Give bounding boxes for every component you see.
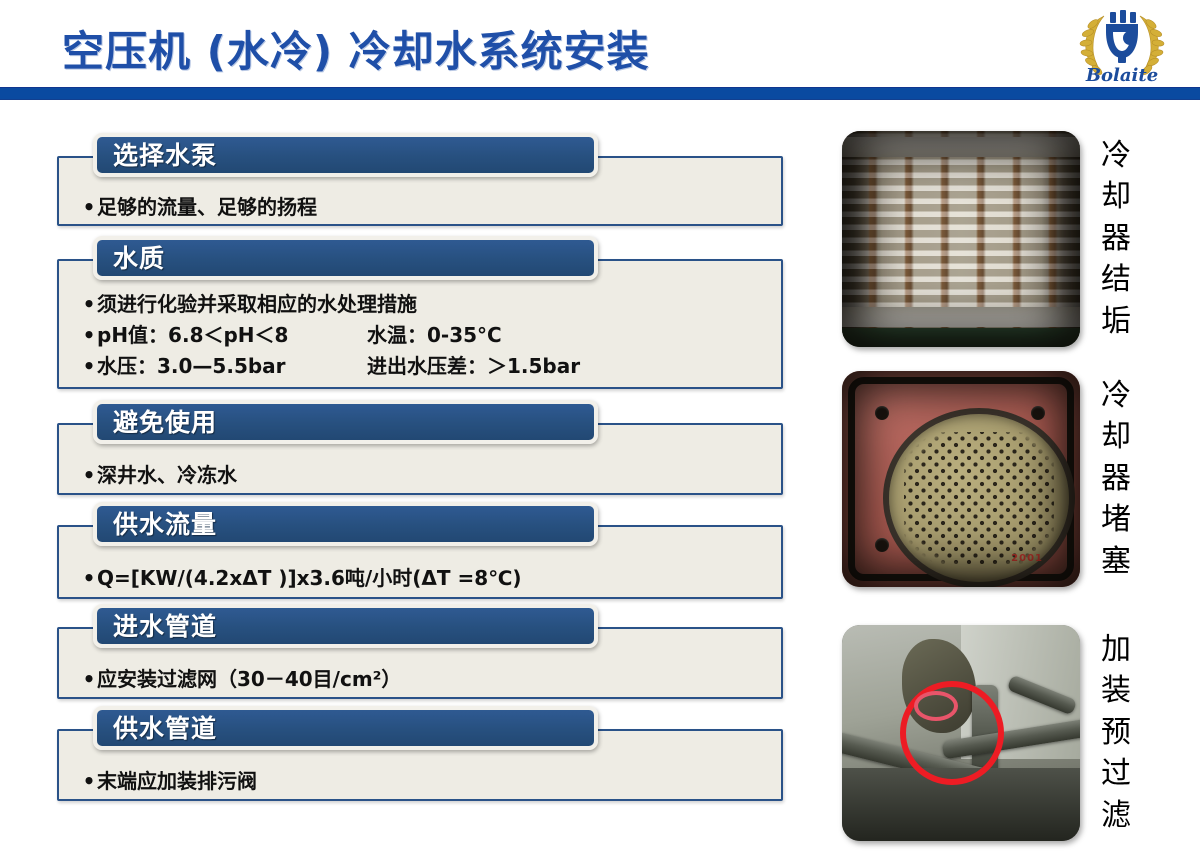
title-divider bbox=[0, 87, 1200, 100]
bullet-text: 水压：3.0—5.5bar bbox=[97, 351, 337, 382]
caption-char: 过 bbox=[1094, 753, 1138, 794]
cooler-blockage-photo[interactable]: 2001 bbox=[842, 371, 1080, 587]
info-box-header-label: 供水流量 bbox=[97, 512, 217, 537]
caption-char: 器 bbox=[1094, 458, 1138, 499]
photo-caption-cooler-scaling: 冷却器结垢 bbox=[1094, 135, 1138, 342]
bullet-dot: • bbox=[81, 320, 97, 351]
bullet-text: 须进行化验并采取相应的水处理措施 bbox=[97, 289, 417, 320]
bullet-text: 深井水、冷冻水 bbox=[97, 460, 237, 491]
bullet-line: • 须进行化验并采取相应的水处理措施 bbox=[81, 289, 781, 320]
slide-root: 空压机 (水冷) 冷却水系统安装 bbox=[0, 0, 1200, 858]
pre-filter-install-photo[interactable] bbox=[842, 625, 1080, 841]
bullet-dot: • bbox=[81, 351, 97, 382]
bullet-list: • 深井水、冷冻水 bbox=[59, 460, 781, 491]
bullet-text: pH值：6.8＜pH＜8 bbox=[97, 320, 337, 351]
photo-item-cooler-blockage: 2001 冷却器堵塞 bbox=[842, 371, 1142, 587]
caption-char: 结 bbox=[1094, 259, 1138, 300]
caption-text: 冷却器结垢 bbox=[1094, 135, 1138, 342]
bullet-list: • 应安装过滤网（30－40目/cm²） bbox=[59, 664, 781, 695]
caption-char: 却 bbox=[1094, 176, 1138, 217]
bullet-line: • Q=[KW/(4.2xΔT )]x3.6吨/小时(ΔT =8℃) bbox=[81, 563, 781, 594]
caption-char: 加 bbox=[1094, 629, 1138, 670]
bullet-text-secondary: 进出水压差：＞1.5bar bbox=[367, 351, 580, 382]
caption-text: 加装预过滤 bbox=[1094, 629, 1138, 836]
bullet-line: • 足够的流量、足够的扬程 bbox=[81, 192, 781, 223]
bullet-text: 应安装过滤网（30－40目/cm²） bbox=[97, 664, 401, 695]
bullet-text: Q=[KW/(4.2xΔT )]x3.6吨/小时(ΔT =8℃) bbox=[97, 563, 522, 594]
bullet-dot: • bbox=[81, 460, 97, 491]
info-box-header[interactable]: 进水管道 bbox=[93, 604, 598, 648]
info-box-header[interactable]: 供水管道 bbox=[93, 706, 598, 750]
info-box-header-label: 选择水泵 bbox=[97, 143, 217, 168]
caption-char: 冷 bbox=[1094, 135, 1138, 176]
bullet-list: • 末端应加装排污阀 bbox=[59, 766, 781, 797]
cooler-scaling-photo[interactable] bbox=[842, 131, 1080, 347]
bullet-line: • 水压：3.0—5.5bar 进出水压差：＞1.5bar bbox=[81, 351, 781, 382]
bullet-line: • 应安装过滤网（30－40目/cm²） bbox=[81, 664, 781, 695]
photo-caption-pre-filter: 加装预过滤 bbox=[1094, 629, 1138, 836]
info-box-header-label: 避免使用 bbox=[97, 410, 217, 435]
bullet-dot: • bbox=[81, 192, 97, 223]
info-box-header[interactable]: 选择水泵 bbox=[93, 133, 598, 177]
red-annotation-circle-small bbox=[914, 691, 958, 721]
caption-char: 垢 bbox=[1094, 301, 1138, 342]
bullet-text-secondary: 水温：0-35°C bbox=[367, 320, 502, 351]
caption-char: 器 bbox=[1094, 218, 1138, 259]
caption-text: 冷却器堵塞 bbox=[1094, 375, 1138, 582]
page-title: 空压机 (水冷) 冷却水系统安装 bbox=[62, 18, 650, 79]
photo-caption-cooler-blockage: 冷却器堵塞 bbox=[1094, 375, 1138, 582]
bullet-dot: • bbox=[81, 664, 97, 695]
photo-item-pre-filter: 加装预过滤 bbox=[842, 625, 1142, 841]
info-box-header[interactable]: 避免使用 bbox=[93, 400, 598, 444]
caption-char: 滤 bbox=[1094, 795, 1138, 836]
bullet-dot: • bbox=[81, 289, 97, 320]
photo-vignette bbox=[842, 371, 1080, 587]
bullet-line: • pH值：6.8＜pH＜8 水温：0-35°C bbox=[81, 320, 781, 351]
bullet-line: • 末端应加装排污阀 bbox=[81, 766, 781, 797]
bullet-dot: • bbox=[81, 563, 97, 594]
bullet-text: 足够的流量、足够的扬程 bbox=[97, 192, 317, 223]
brand-wordmark: Bolaite bbox=[1085, 65, 1158, 86]
info-box-header-label: 水质 bbox=[97, 246, 165, 271]
bullet-dot: • bbox=[81, 766, 97, 797]
caption-char: 堵 bbox=[1094, 499, 1138, 540]
info-box-header-label: 供水管道 bbox=[97, 716, 217, 741]
bullet-line: • 深井水、冷冻水 bbox=[81, 460, 781, 491]
info-box-header[interactable]: 水质 bbox=[93, 236, 598, 280]
caption-char: 塞 bbox=[1094, 541, 1138, 582]
bullet-list: • 须进行化验并采取相应的水处理措施 • pH值：6.8＜pH＜8 水温：0-3… bbox=[59, 289, 781, 382]
caption-char: 冷 bbox=[1094, 375, 1138, 416]
bullet-list: • Q=[KW/(4.2xΔT )]x3.6吨/小时(ΔT =8℃) bbox=[59, 563, 781, 594]
photo-vignette bbox=[842, 131, 1080, 347]
caption-char: 预 bbox=[1094, 712, 1138, 753]
info-box-header-label: 进水管道 bbox=[97, 614, 217, 639]
caption-char: 装 bbox=[1094, 670, 1138, 711]
caption-char: 却 bbox=[1094, 416, 1138, 457]
bolaite-logo: Bolaite bbox=[1058, 2, 1186, 86]
photo-item-cooler-scaling: 冷却器结垢 bbox=[842, 131, 1142, 347]
info-box-header[interactable]: 供水流量 bbox=[93, 502, 598, 546]
bullet-text: 末端应加装排污阀 bbox=[97, 766, 257, 797]
bullet-list: • 足够的流量、足够的扬程 bbox=[59, 192, 781, 223]
